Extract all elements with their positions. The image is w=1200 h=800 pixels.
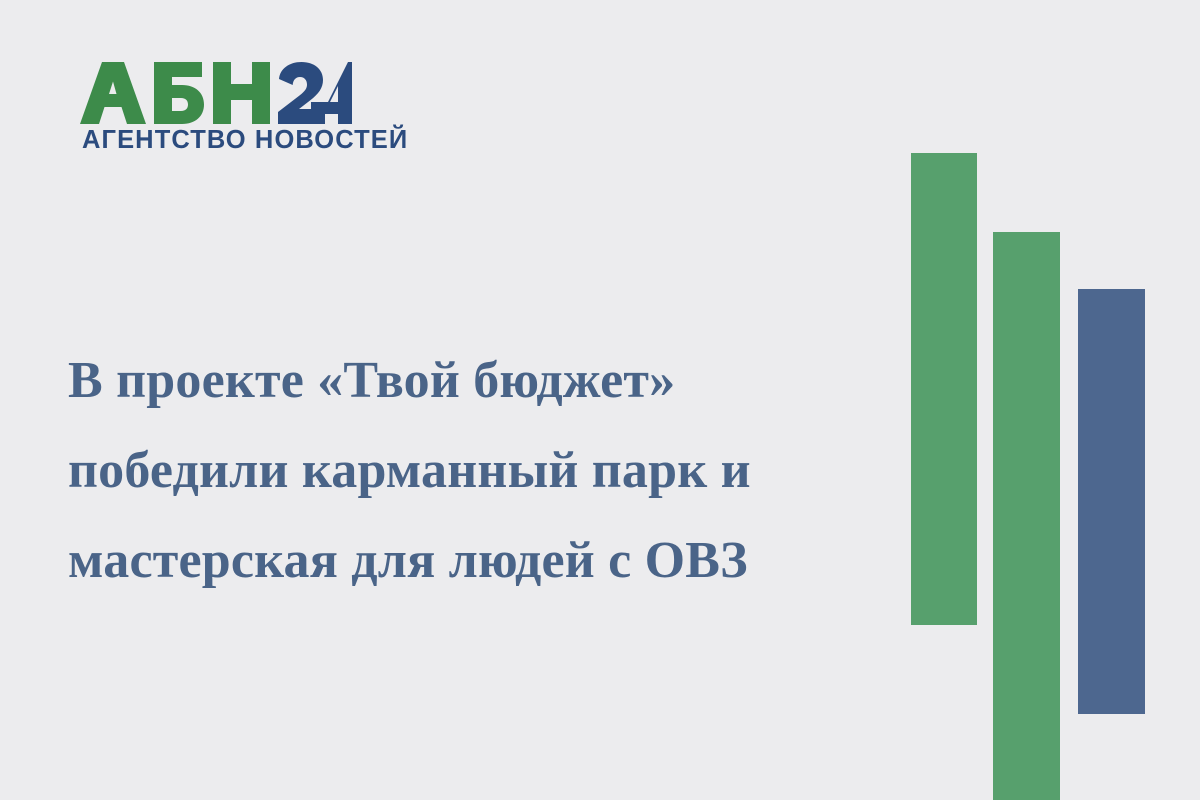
chart-bar-1 — [911, 153, 977, 625]
brand-logo: АГЕНТСТВО НОВОСТЕЙ — [80, 62, 380, 162]
headline: В проекте «Твой бюджет» победили карманн… — [68, 336, 868, 606]
headline-line-2: победили карманный парк и — [68, 426, 868, 516]
headline-line-1: В проекте «Твой бюджет» — [68, 336, 868, 426]
brand-tagline: АГЕНТСТВО НОВОСТЕЙ — [82, 128, 408, 154]
chart-bar-2 — [993, 232, 1060, 800]
abn24-wordmark-icon — [80, 62, 352, 124]
news-card: АГЕНТСТВО НОВОСТЕЙ В проекте «Твой бюдже… — [0, 0, 1200, 800]
brand-logo-mark — [80, 62, 352, 124]
headline-line-3: мастерская для людей с ОВЗ — [68, 516, 868, 606]
chart-bar-3 — [1078, 289, 1145, 714]
